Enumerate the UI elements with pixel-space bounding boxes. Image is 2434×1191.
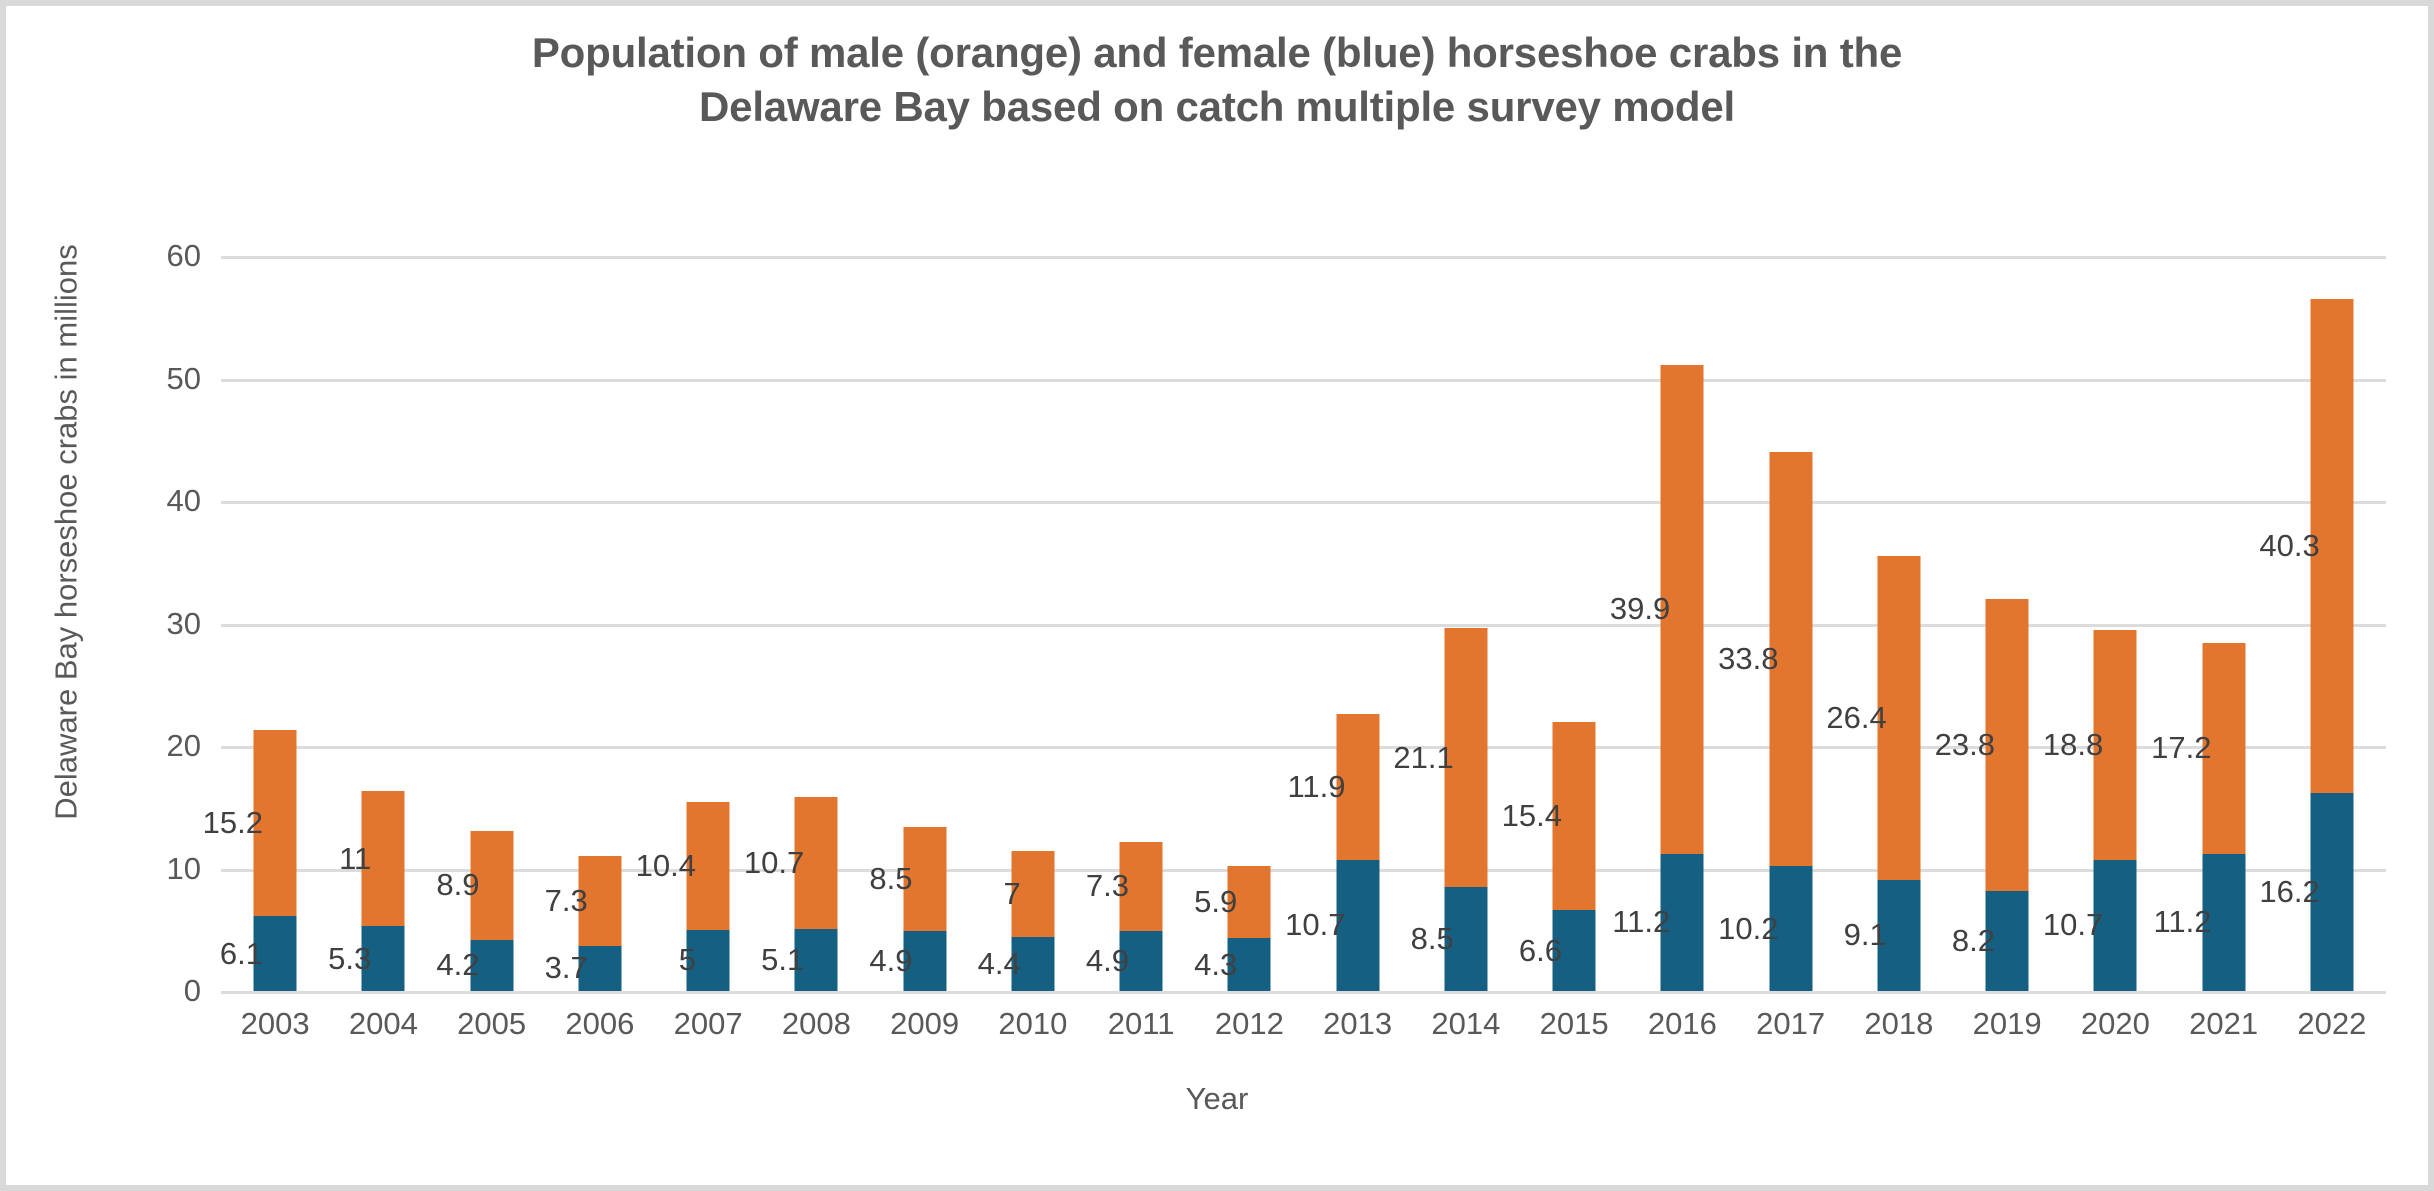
bar-segment-female[interactable] <box>1011 937 1054 991</box>
bar-segment-female[interactable] <box>1228 938 1271 991</box>
x-axis-title: Year <box>6 1081 2428 1117</box>
chart-title-line-2: Delaware Bay based on catch multiple sur… <box>6 80 2428 134</box>
y-axis-tick-label: 10 <box>46 851 201 887</box>
bar-group[interactable]: 10.711.9 <box>1304 256 1412 991</box>
gridline <box>221 991 2386 994</box>
bar-segment-male[interactable] <box>1011 851 1054 937</box>
bar-stack[interactable] <box>795 797 838 991</box>
bar-stack[interactable] <box>2202 643 2245 991</box>
bar-segment-male[interactable] <box>470 831 513 940</box>
bar-group[interactable]: 6.115.2 <box>221 256 329 991</box>
bar-segment-male[interactable] <box>687 802 730 929</box>
bar-stack[interactable] <box>1120 842 1163 991</box>
bar-group[interactable]: 8.521.1 <box>1412 256 1520 991</box>
bar-group[interactable]: 11.239.9 <box>1628 256 1736 991</box>
bar-group[interactable]: 4.28.9 <box>438 256 546 991</box>
bar-group[interactable]: 6.615.4 <box>1520 256 1628 991</box>
bar-segment-female[interactable] <box>1661 854 1704 991</box>
bar-segment-female[interactable] <box>1986 891 2029 991</box>
bar-segment-male[interactable] <box>1553 722 1596 911</box>
bar-group[interactable]: 4.35.9 <box>1195 256 1303 991</box>
bar-segment-male[interactable] <box>1336 714 1379 860</box>
bar-segment-male[interactable] <box>2202 643 2245 854</box>
bar-group[interactable]: 10.233.8 <box>1737 256 1845 991</box>
bar-group[interactable]: 16.240.3 <box>2278 256 2386 991</box>
bar-group[interactable]: 4.47 <box>979 256 1087 991</box>
bar-segment-female[interactable] <box>2202 854 2245 991</box>
bar-group[interactable]: 3.77.3 <box>546 256 654 991</box>
data-label-male: 15.2 <box>163 805 263 841</box>
bar-segment-female[interactable] <box>795 929 838 991</box>
bar-stack[interactable] <box>2094 630 2137 991</box>
bar-segment-male[interactable] <box>1120 842 1163 931</box>
bar-segment-female[interactable] <box>362 926 405 991</box>
data-label-female: 6.1 <box>163 936 263 972</box>
bar-segment-male[interactable] <box>795 797 838 928</box>
y-axis-tick-label: 30 <box>46 606 201 642</box>
bar-segment-male[interactable] <box>903 827 946 931</box>
bar-segment-female[interactable] <box>2094 860 2137 991</box>
y-axis-title: Delaware Bay horseshoe crabs in millions <box>44 6 90 1191</box>
bar-group[interactable]: 11.217.2 <box>2170 256 2278 991</box>
x-axis-tick-label: 2022 <box>2267 1006 2397 1042</box>
bar-segment-male[interactable] <box>578 856 621 945</box>
bar-stack[interactable] <box>470 831 513 991</box>
bar-stack[interactable] <box>1011 851 1054 991</box>
bar-stack[interactable] <box>1877 556 1920 991</box>
bar-segment-male[interactable] <box>362 791 405 926</box>
bar-stack[interactable] <box>1553 722 1596 991</box>
bar-stack[interactable] <box>362 791 405 991</box>
bar-stack[interactable] <box>687 802 730 991</box>
y-axis-tick-label: 50 <box>46 361 201 397</box>
bar-stack[interactable] <box>1444 628 1487 991</box>
bar-stack[interactable] <box>1661 365 1704 991</box>
bar-stack[interactable] <box>1769 452 1812 991</box>
bar-stack[interactable] <box>903 827 946 991</box>
bar-segment-male[interactable] <box>2310 299 2353 793</box>
bar-segment-male[interactable] <box>1769 452 1812 866</box>
bar-segment-female[interactable] <box>1553 910 1596 991</box>
y-axis-tick-label: 60 <box>46 238 201 274</box>
bar-segment-female[interactable] <box>2310 793 2353 991</box>
bar-group[interactable]: 510.4 <box>654 256 762 991</box>
y-axis-tick-label: 0 <box>46 973 201 1009</box>
bar-stack[interactable] <box>578 856 621 991</box>
y-axis-tick-label: 40 <box>46 483 201 519</box>
bar-segment-female[interactable] <box>1120 931 1163 991</box>
chart-title-line-1: Population of male (orange) and female (… <box>6 26 2428 80</box>
bar-segment-male[interactable] <box>1877 556 1920 879</box>
y-axis-tick-label: 20 <box>46 728 201 764</box>
chart-container: Population of male (orange) and female (… <box>0 0 2434 1191</box>
bar-group[interactable]: 9.126.4 <box>1845 256 1953 991</box>
bar-segment-female[interactable] <box>1877 880 1920 991</box>
bar-group[interactable]: 5.110.7 <box>762 256 870 991</box>
bar-group[interactable]: 10.718.8 <box>2061 256 2169 991</box>
bar-segment-female[interactable] <box>470 940 513 991</box>
bar-segment-male[interactable] <box>1661 365 1704 854</box>
bar-group[interactable]: 8.223.8 <box>1953 256 2061 991</box>
bar-stack[interactable] <box>1336 714 1379 991</box>
bar-segment-female[interactable] <box>687 930 730 991</box>
plot-area: 0102030405060 6.115.25.3114.28.93.77.351… <box>221 256 2386 991</box>
bar-segment-male[interactable] <box>2094 630 2137 860</box>
bar-group[interactable]: 4.97.3 <box>1087 256 1195 991</box>
bar-segment-female[interactable] <box>254 916 297 991</box>
chart-title: Population of male (orange) and female (… <box>6 26 2428 134</box>
bar-segment-female[interactable] <box>1336 860 1379 991</box>
bar-segment-male[interactable] <box>1228 866 1271 938</box>
bar-stack[interactable] <box>254 730 297 991</box>
bar-group[interactable]: 5.311 <box>329 256 437 991</box>
bar-segment-female[interactable] <box>1444 887 1487 991</box>
bar-segment-female[interactable] <box>903 931 946 991</box>
bar-group[interactable]: 4.98.5 <box>871 256 979 991</box>
bar-segment-female[interactable] <box>1769 866 1812 991</box>
bar-stack[interactable] <box>2310 299 2353 991</box>
bar-segment-male[interactable] <box>1986 599 2029 891</box>
bar-segment-female[interactable] <box>578 946 621 991</box>
bar-series-group: 6.115.25.3114.28.93.77.3510.45.110.74.98… <box>221 256 2386 991</box>
bar-segment-male[interactable] <box>254 730 297 916</box>
bar-stack[interactable] <box>1986 599 2029 991</box>
bar-segment-male[interactable] <box>1444 628 1487 886</box>
bar-stack[interactable] <box>1228 866 1271 991</box>
